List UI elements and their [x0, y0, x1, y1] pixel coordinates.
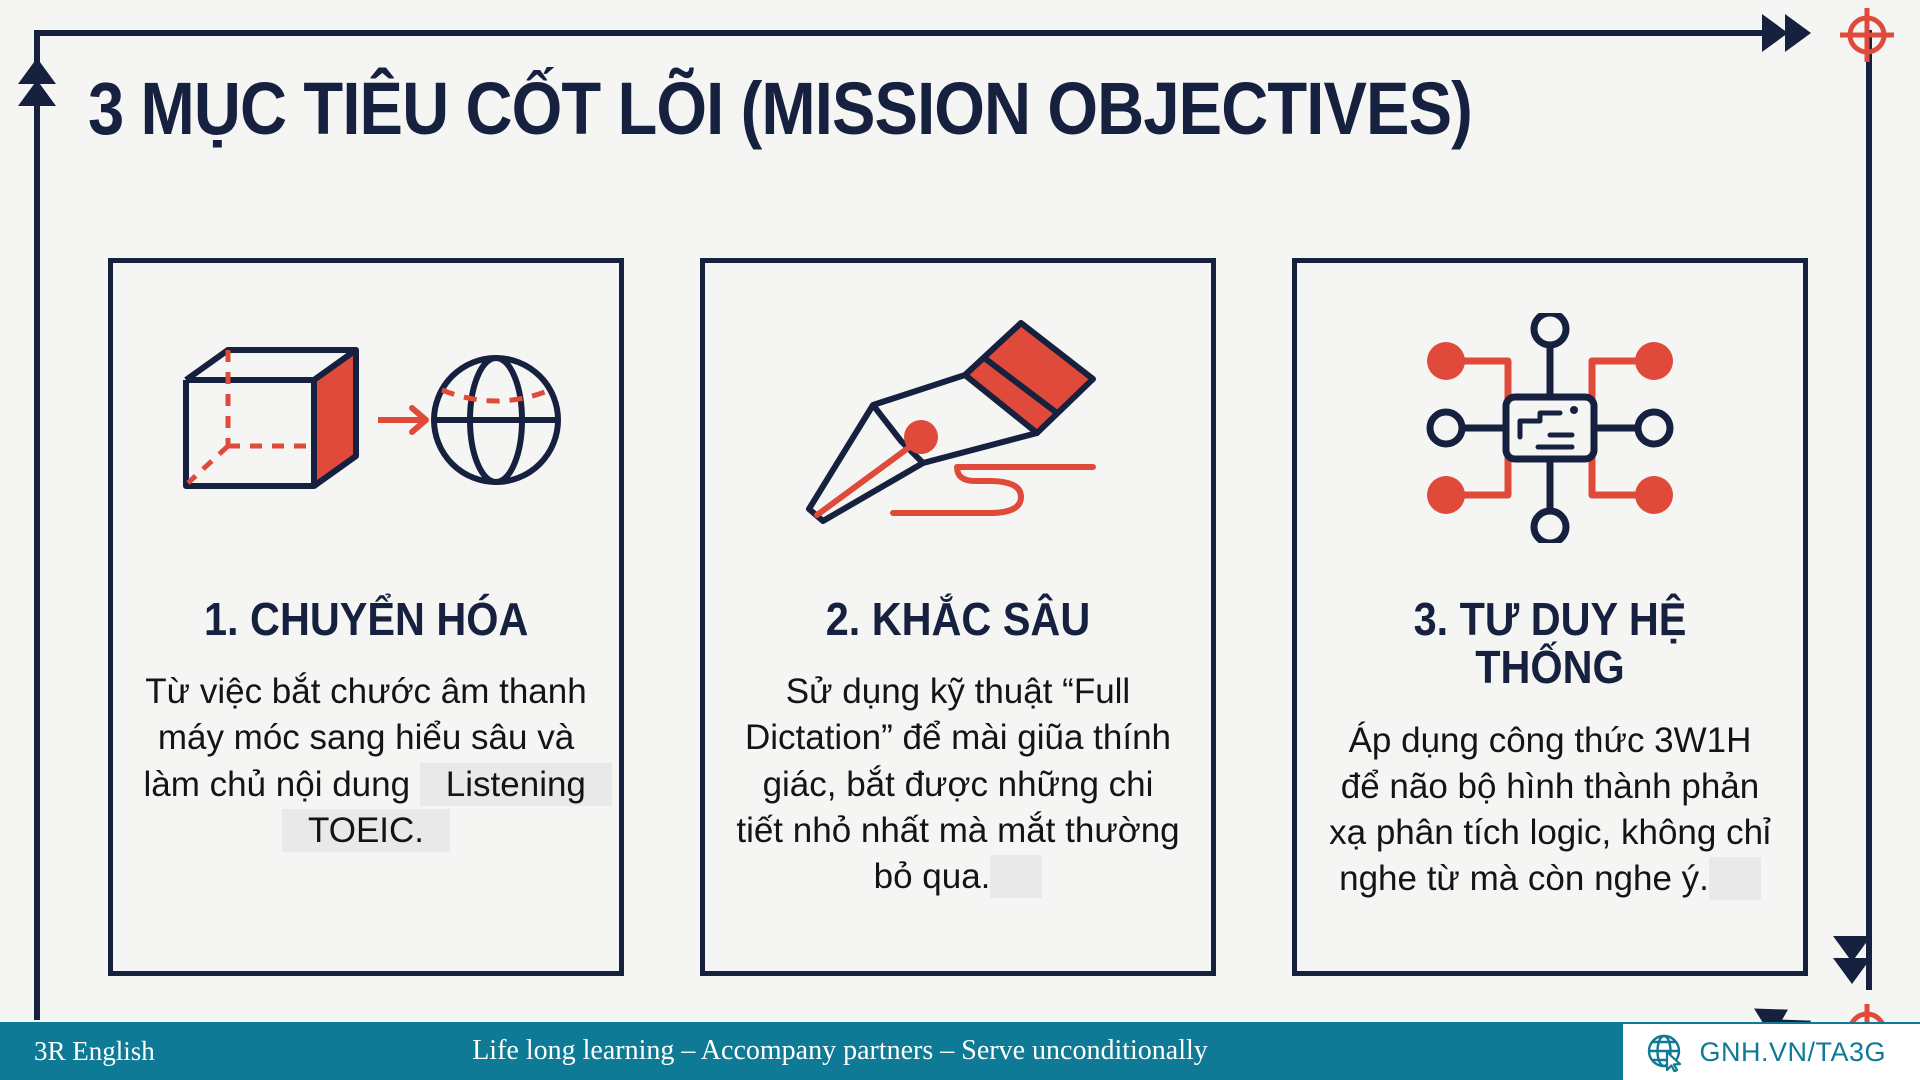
objective-card-2-heading: 2. KHẮC SÂU: [826, 595, 1091, 643]
globe-cursor-icon: [1645, 1032, 1685, 1072]
footer-bar: 3R English Life long learning – Accompan…: [0, 1022, 1920, 1080]
fountain-pen-nib-icon: [793, 303, 1123, 553]
objective-card-3-heading: 3. TƯ DUY HỆ THỐNG: [1339, 595, 1762, 692]
objectives-card-group: 1. CHUYỂN HÓA Từ việc bắt chước âm thanh…: [108, 258, 1808, 976]
footer-url-badge[interactable]: GNH.VN/TA3G: [1623, 1024, 1920, 1080]
frame-right-line: [1866, 30, 1872, 990]
objective-card-2[interactable]: 2. KHẮC SÂU Sử dụng kỹ thuật “Full Dicta…: [700, 258, 1216, 976]
microchip-network-icon: [1400, 303, 1700, 553]
footer-badge-label: GNH.VN/TA3G: [1699, 1037, 1886, 1068]
objective-card-3[interactable]: 3. TƯ DUY HỆ THỐNG Áp dụng công thức 3W1…: [1292, 258, 1808, 976]
crosshair-target-icon: [1838, 6, 1896, 64]
objective-card-2-body-text: Sử dụng kỹ thuật “Full Dictation” để mài…: [736, 672, 1179, 896]
cube-to-globe-icon: [166, 303, 566, 553]
objective-card-1-heading: 1. CHUYỂN HÓA: [204, 595, 528, 643]
frame-top-line: [34, 30, 1774, 36]
double-chevron-down-icon: [1833, 958, 1871, 984]
frame-left-line: [34, 30, 40, 1020]
objective-card-1[interactable]: 1. CHUYỂN HÓA Từ việc bắt chước âm thanh…: [108, 258, 624, 976]
objective-card-3-body-text: Áp dụng công thức 3W1H để não bộ hình th…: [1329, 721, 1771, 899]
objective-card-1-body: Từ việc bắt chước âm thanh máy móc sang …: [144, 669, 589, 854]
objective-card-2-body: Sử dụng kỹ thuật “Full Dictation” để mài…: [736, 669, 1181, 900]
objective-card-3-body-highlight: [1709, 857, 1761, 900]
objective-card-3-body: Áp dụng công thức 3W1H để não bộ hình th…: [1328, 718, 1773, 903]
double-chevron-up-icon: [18, 80, 56, 106]
objective-card-2-body-highlight: [990, 855, 1042, 898]
page-title: 3 MỤC TIÊU CỐT LÕI (MISSION OBJECTIVES): [88, 72, 1472, 146]
double-chevron-right-icon: [1785, 14, 1811, 52]
